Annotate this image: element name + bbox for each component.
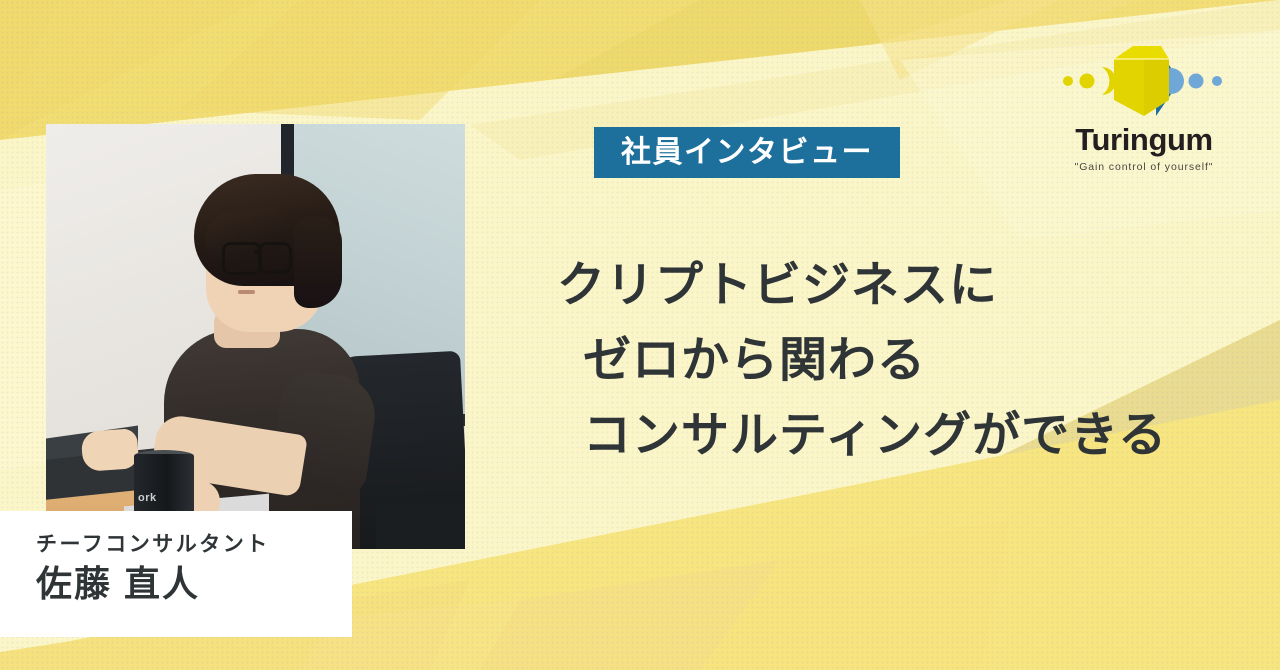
photo-mug-label: ork	[138, 492, 190, 504]
photo-chair-base	[376, 504, 465, 549]
employee-interview-banner: ork 社員インタビュー クリプトビジネスに ゼロから関わる コンサルティングが…	[0, 0, 1280, 670]
speaker-name: 佐藤 直人	[36, 563, 352, 604]
speaker-role: チーフコンサルタント	[36, 533, 352, 557]
turingum-tagline: "Gain control of yourself"	[1056, 161, 1232, 173]
headline-line-2: ゼロから関わる	[557, 323, 1237, 398]
turingum-wordmark: Turingum	[1056, 124, 1232, 157]
speaker-name-card: チーフコンサルタント 佐藤 直人	[0, 511, 352, 637]
photo-glasses-right-lens	[258, 242, 292, 274]
employee-photo: ork	[46, 124, 465, 549]
photo-person-hair-side	[294, 216, 342, 308]
photo-glasses-left-lens	[222, 242, 262, 275]
photo-person-left-hand	[81, 428, 140, 472]
headline-line-1: クリプトビジネスに	[557, 248, 1237, 323]
interview-badge-label: 社員インタビュー	[621, 138, 873, 168]
headline-line-3: コンサルティングができる	[557, 398, 1237, 473]
photo-glasses-bridge	[254, 250, 261, 254]
turingum-logo[interactable]: Turingum "Gain control of yourself"	[1056, 38, 1232, 173]
turingum-cube-icon	[1056, 38, 1232, 122]
interview-badge: 社員インタビュー	[594, 127, 900, 178]
headline: クリプトビジネスに ゼロから関わる コンサルティングができる	[557, 248, 1237, 473]
photo-person-mouth	[238, 290, 255, 294]
